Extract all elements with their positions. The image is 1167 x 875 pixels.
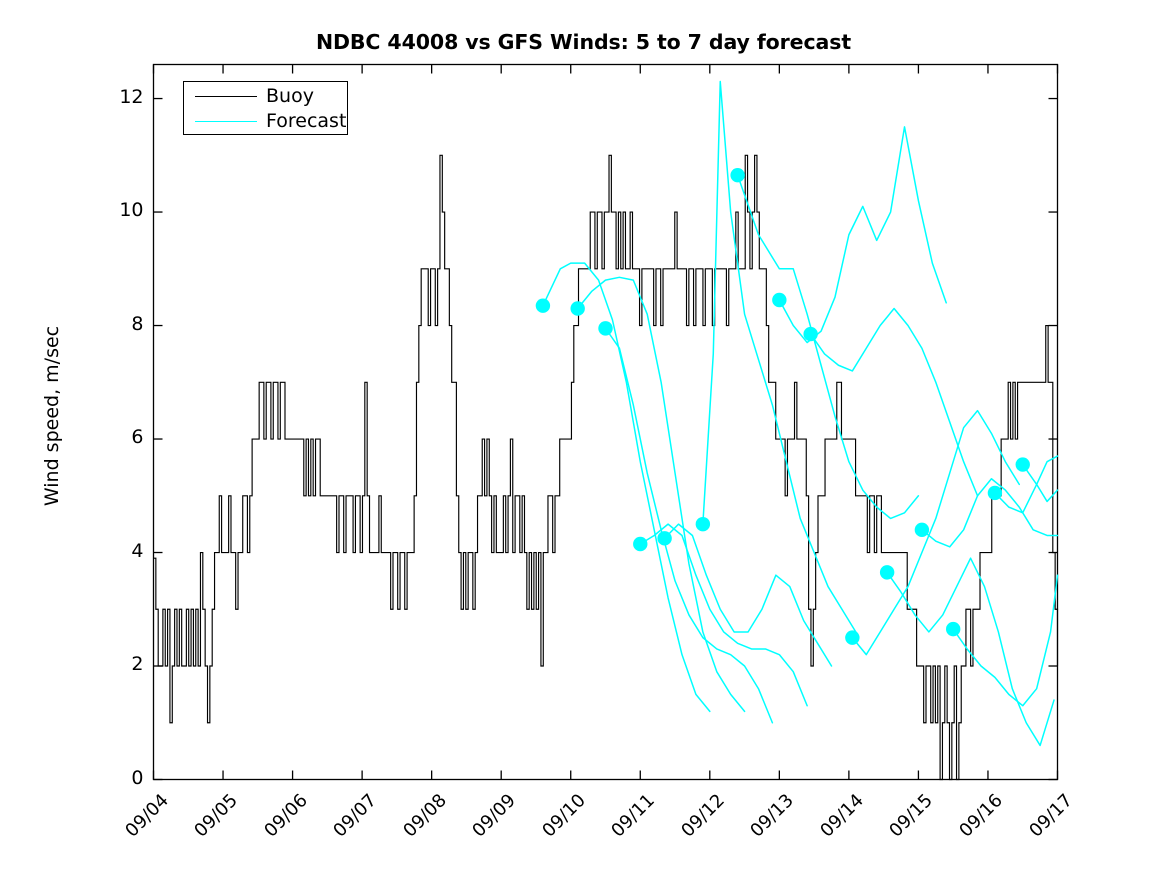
forecast-markers xyxy=(536,168,1030,645)
x-tick-marks xyxy=(154,65,1058,780)
figure: NDBC 44008 vs GFS Winds: 5 to 7 day fore… xyxy=(0,0,1167,875)
legend-label-forecast: Forecast xyxy=(266,108,346,135)
y-tick-label: 6 xyxy=(96,426,144,448)
plot-canvas xyxy=(0,0,1167,875)
legend-line-buoy xyxy=(195,96,257,97)
legend-line-forecast xyxy=(195,121,257,122)
axes-frame xyxy=(154,65,1058,780)
y-tick-label: 2 xyxy=(96,653,144,675)
y-tick-label: 8 xyxy=(96,313,144,335)
y-tick-label: 12 xyxy=(96,86,144,108)
forecast-series xyxy=(543,82,1058,746)
y-tick-label: 4 xyxy=(96,540,144,562)
buoy-series xyxy=(154,155,1058,779)
legend-entry-buoy[interactable]: Buoy xyxy=(184,83,349,110)
y-tick-label: 0 xyxy=(96,767,144,789)
legend-label-buoy: Buoy xyxy=(266,83,314,110)
y-tick-label: 10 xyxy=(96,199,144,221)
legend[interactable]: Buoy Forecast xyxy=(183,81,348,135)
legend-entry-forecast[interactable]: Forecast xyxy=(184,108,349,135)
